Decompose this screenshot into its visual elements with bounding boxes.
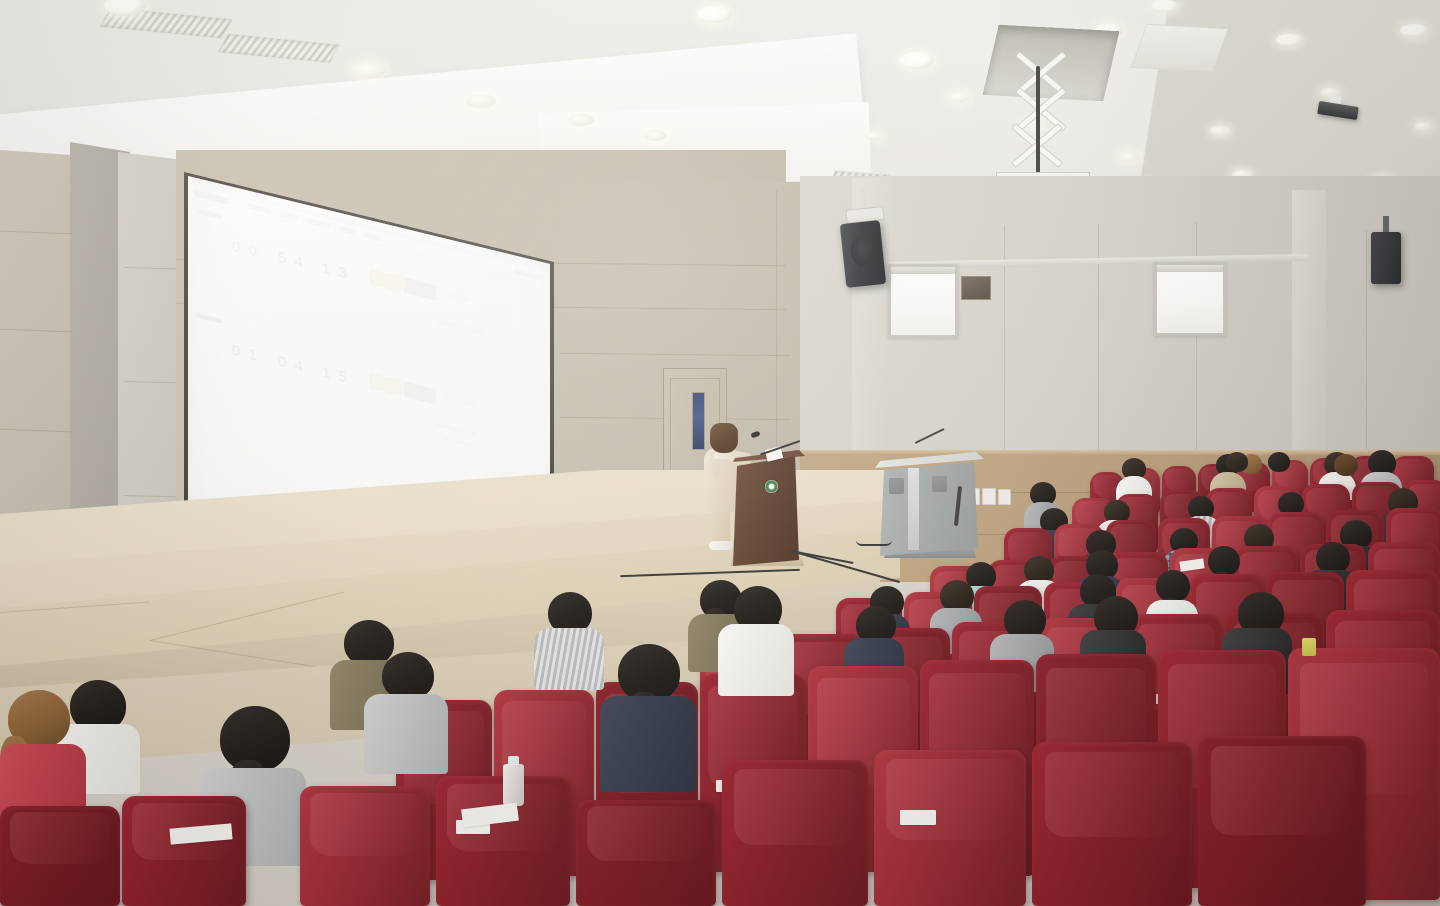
- audience-head: [1334, 454, 1358, 476]
- downlight-icon: [644, 130, 666, 141]
- auditorium-seat: [576, 800, 716, 906]
- downlight-icon: [698, 6, 732, 23]
- secondary-action-button[interactable]: [404, 278, 436, 301]
- downlight-icon: [568, 114, 594, 126]
- row-detail-bar: [436, 423, 478, 437]
- audience-torso: [364, 694, 448, 774]
- audience-torso: [718, 624, 794, 696]
- row-number-2: 0 4: [278, 352, 305, 375]
- ceiling-access-panel: [1131, 24, 1229, 72]
- presenter-shoes: [709, 541, 733, 550]
- auditorium-seat: [0, 806, 120, 906]
- downlight-icon: [864, 132, 882, 140]
- console-cable: [856, 540, 892, 546]
- downlight-icon: [352, 62, 386, 78]
- secondary-action-button[interactable]: [404, 381, 436, 404]
- auditorium-seat: [1198, 736, 1366, 906]
- water-bottle: [503, 764, 524, 806]
- auditorium-seat: [300, 786, 430, 906]
- downlight-icon: [1400, 24, 1428, 37]
- blind-valance: [891, 267, 955, 274]
- wooden-lectern: [733, 456, 799, 566]
- downlight-icon: [1276, 34, 1302, 46]
- nav-item[interactable]: [280, 211, 298, 220]
- audience-head: [1268, 452, 1290, 472]
- downlight-icon: [948, 92, 970, 102]
- audience-head: [1226, 452, 1248, 472]
- nav-item[interactable]: [364, 232, 380, 241]
- audience-head: [382, 652, 434, 700]
- speaker-cone-icon: [849, 235, 876, 267]
- row-label: [196, 313, 222, 324]
- window-with-roller-blind-right: [1154, 262, 1226, 336]
- row-detail-bar: [438, 320, 484, 335]
- window-with-roller-blind-left: [888, 264, 958, 338]
- row-detail-bar: [446, 396, 474, 407]
- row-number-2: 5 4: [278, 249, 305, 272]
- white-seat-number-tag: [900, 810, 936, 825]
- downlight-icon: [900, 52, 934, 69]
- audience-torso: [600, 696, 696, 792]
- row-number-1: 0 1: [232, 341, 259, 364]
- grey-av-control-lectern[interactable]: [880, 462, 978, 556]
- row-number-3: 1 5: [322, 363, 349, 386]
- row-label: [196, 209, 222, 220]
- row-detail-bar: [444, 437, 474, 448]
- console-panel[interactable]: [889, 478, 904, 494]
- projector-cable: [1036, 66, 1040, 174]
- downlight-icon: [1152, 0, 1178, 12]
- blind-valance: [1157, 265, 1223, 272]
- wall-mounted-control-panel[interactable]: [961, 276, 991, 300]
- ceiling-mounted-loudspeaker-left: [840, 220, 886, 288]
- row-number-3: 1 3: [322, 259, 349, 282]
- nav-item[interactable]: [308, 218, 330, 228]
- wall-outlet-icon[interactable]: [982, 488, 996, 505]
- downlight-icon: [466, 94, 496, 108]
- auditorium-seat: [722, 760, 868, 906]
- row-number-1: 0 0: [232, 237, 259, 260]
- nav-item[interactable]: [340, 226, 354, 234]
- downlight-icon: [1118, 152, 1140, 162]
- wall-outlet-icon[interactable]: [998, 489, 1011, 505]
- auditorium-seat: [1032, 742, 1192, 906]
- console-panel[interactable]: [932, 476, 947, 492]
- downlight-icon: [1210, 126, 1230, 135]
- nav-item[interactable]: [248, 204, 270, 214]
- primary-action-button[interactable]: [370, 269, 402, 292]
- console-center-stripe: [908, 468, 919, 550]
- presenter-hair-fringe: [710, 423, 738, 436]
- podium-emblem-icon: [765, 480, 778, 493]
- primary-action-button[interactable]: [370, 373, 402, 396]
- auditorium-seat: [874, 750, 1026, 906]
- audience-torso: [534, 628, 604, 690]
- yellow-cup: [1302, 638, 1316, 656]
- auditorium-photo: 0 0 5 4 1 3 0 1 0 4 1 5: [0, 0, 1440, 906]
- door-vision-panel: [692, 392, 705, 450]
- wall-mounted-loudspeaker-right: [1371, 232, 1401, 284]
- downlight-icon: [1414, 122, 1432, 130]
- row-detail-bar: [450, 293, 470, 302]
- auditorium-seat: [122, 796, 246, 906]
